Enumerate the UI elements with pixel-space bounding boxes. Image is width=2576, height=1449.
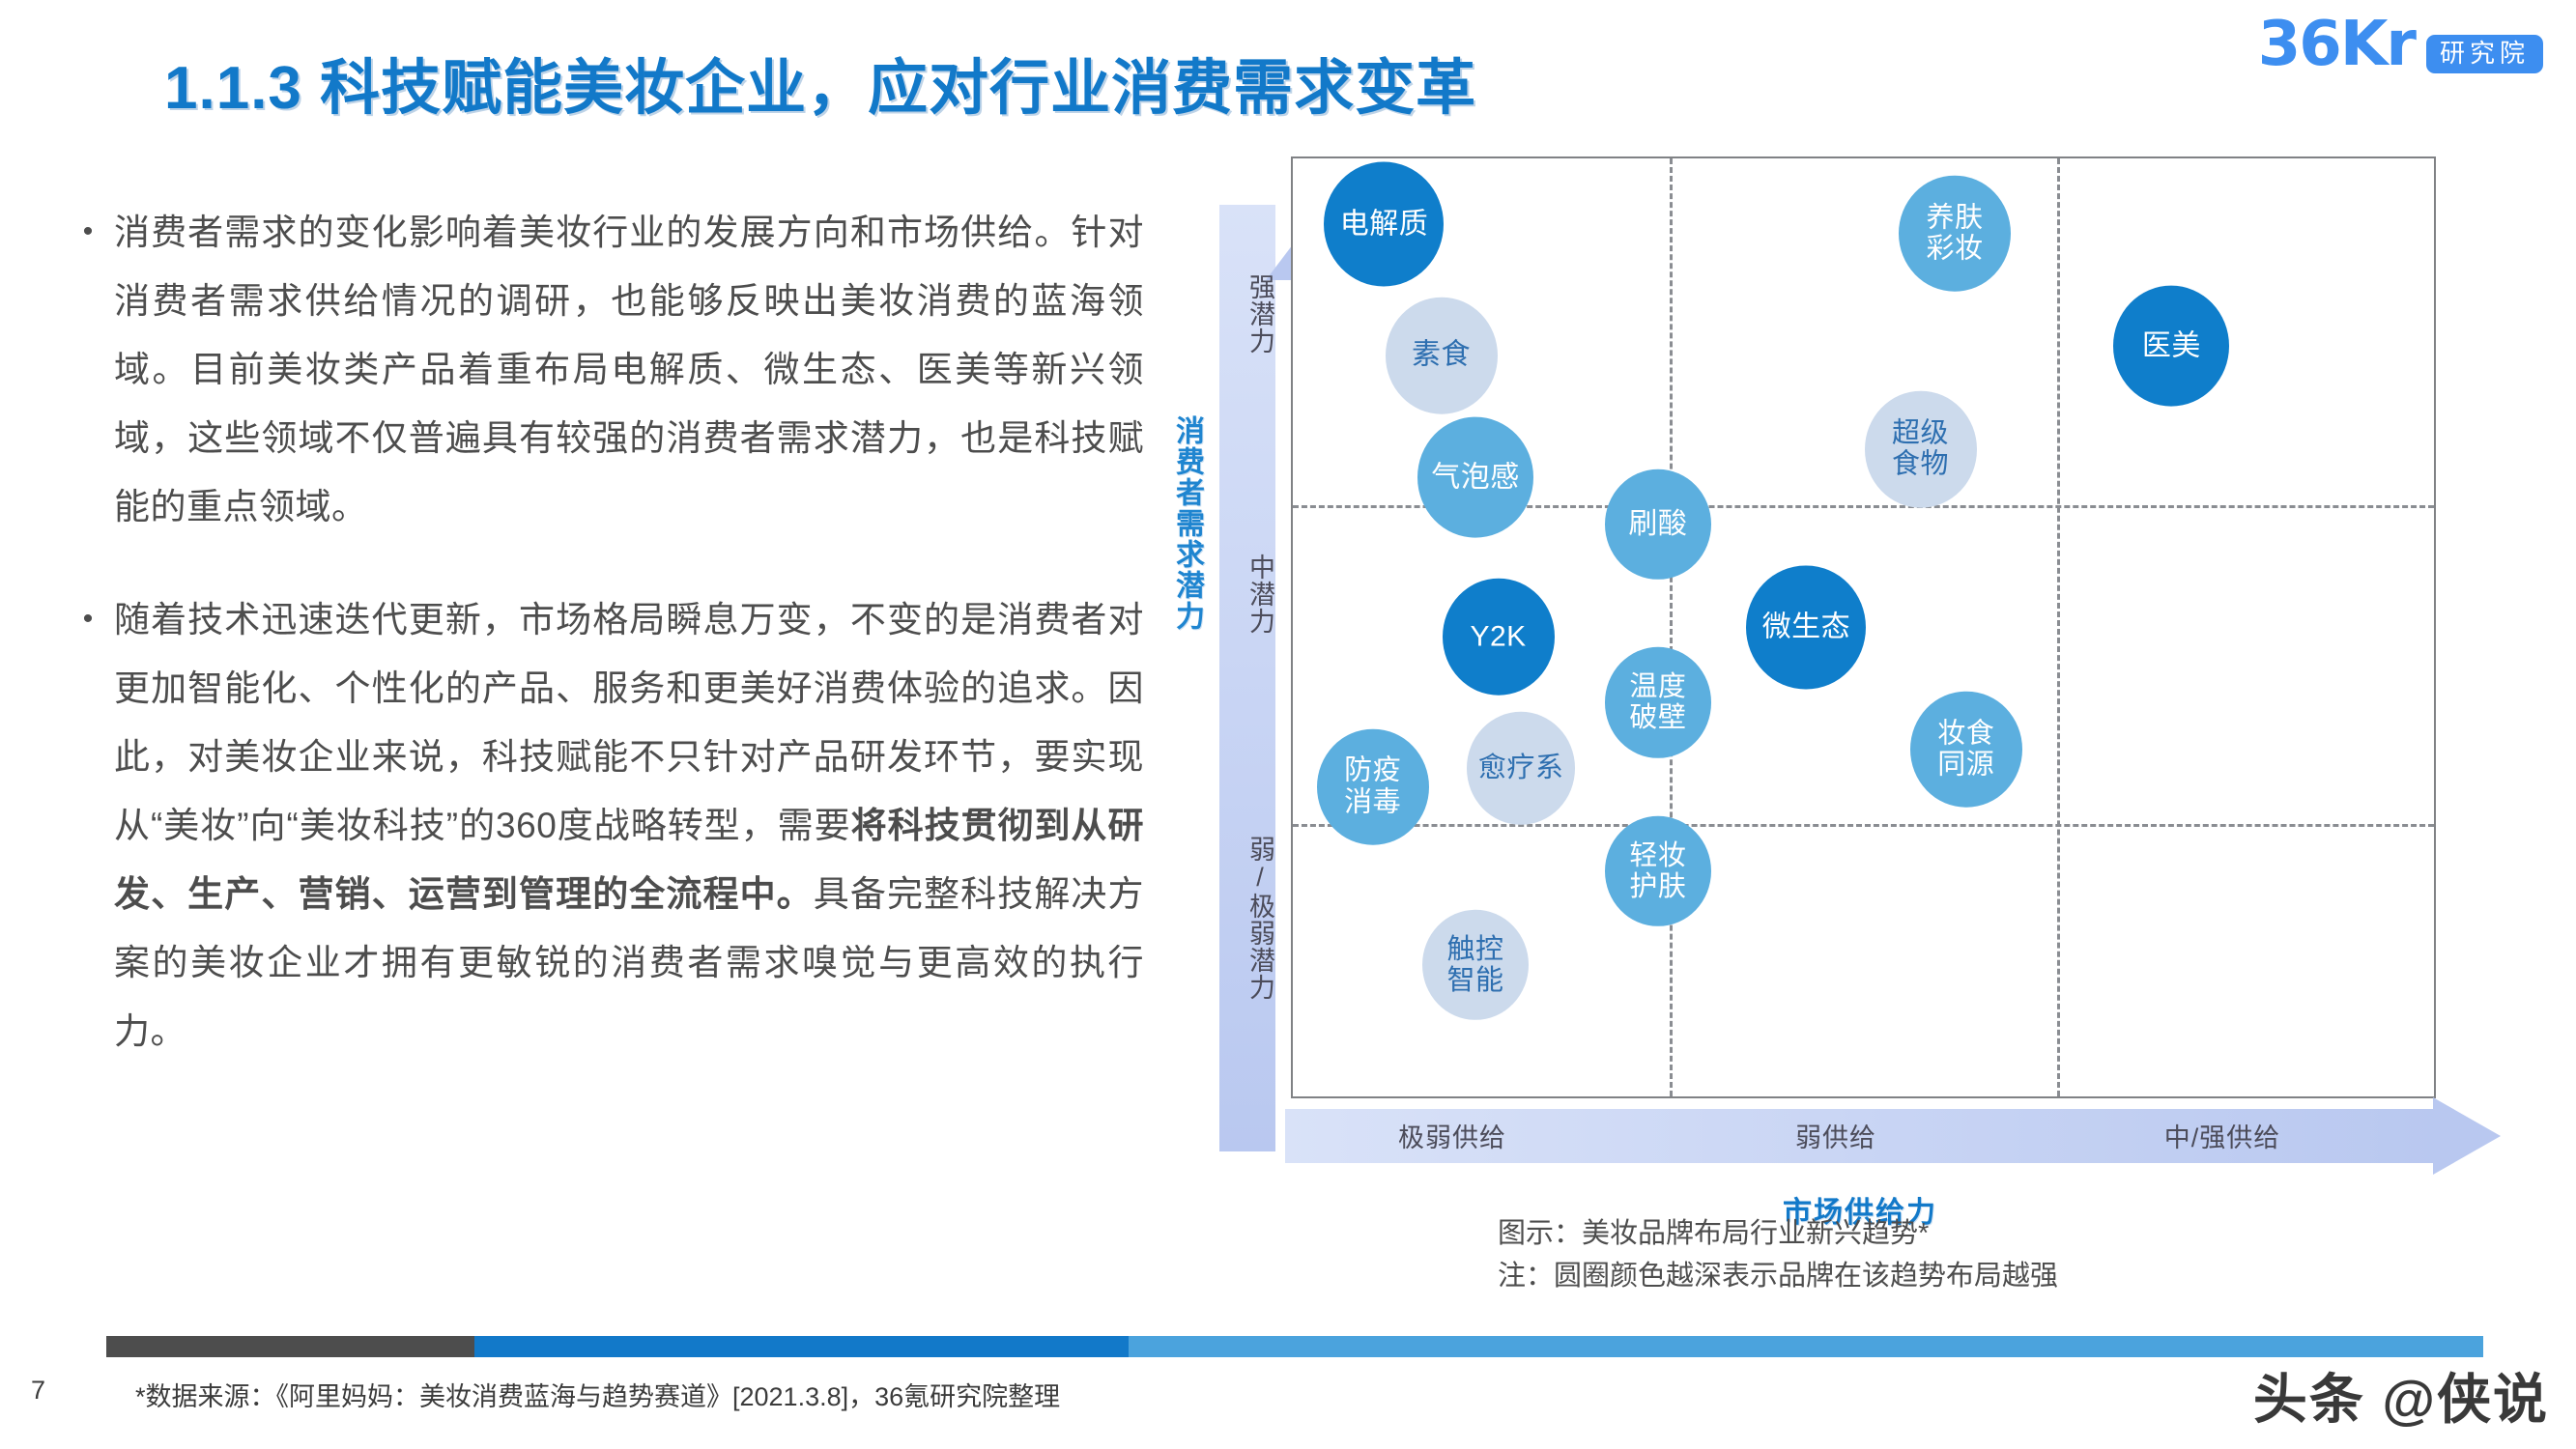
bubble-label: 气泡感	[1431, 461, 1520, 494]
bubble-7: 医美	[2113, 286, 2229, 407]
paragraph-2-text: 随着技术迅速迭代更新，市场格局瞬息万变，不变的是消费者对更加智能化、个性化的产品…	[114, 585, 1144, 1065]
bubble-label: 妆食 同源	[1937, 718, 1994, 781]
bubble-2: 素食	[1386, 298, 1498, 414]
bubble-6: 超级 食物	[1865, 391, 1977, 508]
x-tick-label-medium-strong: 中/强供给	[2063, 1117, 2382, 1154]
bubble-14: 轻妆 护肤	[1605, 816, 1711, 926]
bubble-label: 微生态	[1762, 611, 1851, 644]
bubble-label: 电解质	[1340, 208, 1429, 241]
bubble-13: 愈疗系	[1467, 712, 1575, 824]
x-tick-label-very-weak: 极弱供给	[1293, 1117, 1612, 1154]
bubble-11: 妆食 同源	[1910, 691, 2022, 808]
footer-progress-bar	[106, 1336, 2483, 1357]
bullet-icon-2: •	[62, 585, 114, 1065]
bubble-12: 防疫 消毒	[1317, 728, 1429, 845]
x-axis-arrow-icon	[2433, 1097, 2501, 1175]
brand-mark-text: 36Kr	[2258, 14, 2415, 75]
paragraph-1-text: 消费者需求的变化影响着美妆行业的发展方向和市场供给。针对消费者需求供给情况的调研…	[114, 198, 1144, 541]
gridline-vertical-1	[1670, 158, 1673, 1096]
x-tick-label-weak: 弱供给	[1676, 1117, 1995, 1154]
bubble-8: Y2K	[1443, 579, 1555, 696]
page-title: 1.1.3 科技赋能美妆企业，应对行业消费需求变革	[164, 39, 1476, 126]
watermark: 头条 @侠说	[2253, 1356, 2549, 1435]
y-axis-title: 消费者需求潜力	[1152, 415, 1204, 632]
bubble-label: 素食	[1412, 339, 1471, 372]
bubble-label: 医美	[2142, 329, 2201, 362]
bubble-1: 电解质	[1324, 161, 1444, 286]
bubble-5: 养肤 彩妆	[1899, 175, 2011, 292]
body-text-column: • 消费者需求的变化影响着美妆行业的发展方向和市场供给。针对消费者需求供给情况的…	[62, 198, 1144, 1110]
chart-caption-block: 图示：美妆品牌布局行业新兴趋势* 注：圆圈颜色越深表示品牌在该趋势布局越强	[1498, 1212, 2058, 1297]
y-tick-label-strong: 强潜力	[1219, 222, 1275, 406]
chart-caption: 图示：美妆品牌布局行业新兴趋势*	[1498, 1212, 2058, 1255]
bubble-label: 刷酸	[1628, 508, 1687, 541]
brand-logo: 36Kr 研究院	[2258, 14, 2543, 75]
footer-bar-segment-2	[474, 1336, 1129, 1357]
bubble-15: 触控 智能	[1422, 910, 1529, 1020]
bubble-label: 触控 智能	[1446, 934, 1503, 997]
bubble-label: 温度 破壁	[1629, 671, 1686, 734]
bubble-label: Y2K	[1470, 620, 1526, 653]
y-tick-label-medium: 中潜力	[1219, 502, 1275, 686]
bubble-label: 防疫 消毒	[1344, 755, 1401, 818]
bubble-label: 养肤 彩妆	[1926, 202, 1983, 265]
bubble-label: 轻妆 护肤	[1629, 839, 1686, 902]
page-number: 7	[31, 1376, 45, 1406]
bubble-3: 气泡感	[1417, 417, 1533, 538]
bubble-label: 超级 食物	[1892, 418, 1949, 481]
footer-bar-segment-3	[1129, 1336, 2483, 1357]
paragraph-1: • 消费者需求的变化影响着美妆行业的发展方向和市场供给。针对消费者需求供给情况的…	[62, 198, 1144, 541]
paragraph-2: • 随着技术迅速迭代更新，市场格局瞬息万变，不变的是消费者对更加智能化、个性化的…	[62, 585, 1144, 1065]
slide-page: 1.1.3 科技赋能美妆企业，应对行业消费需求变革 36Kr 研究院 • 消费者…	[0, 0, 2576, 1449]
gridline-vertical-2	[2057, 158, 2060, 1096]
bubble-10: 温度 破壁	[1605, 647, 1711, 757]
plot-area: 电解质素食气泡感刷酸养肤 彩妆超级 食物医美Y2K微生态温度 破壁妆食 同源防疫…	[1291, 156, 2436, 1098]
gridline-horizontal-2	[1293, 824, 2434, 827]
quadrant-bubble-chart: 消费者需求潜力 强潜力 中潜力 弱/极弱潜力 电解质素食气泡感刷酸养肤 彩妆超级…	[1150, 135, 2522, 1217]
footer-bar-segment-1	[106, 1336, 474, 1357]
source-note: *数据来源：《阿里妈妈：美妆消费蓝海与趋势赛道》[2021.3.8]，36氪研究…	[135, 1376, 1060, 1413]
brand-sub-badge: 研究院	[2426, 35, 2543, 73]
bubble-4: 刷酸	[1605, 469, 1711, 579]
bubble-9: 微生态	[1746, 565, 1866, 690]
chart-note: 注：圆圈颜色越深表示品牌在该趋势布局越强	[1498, 1255, 2058, 1297]
bullet-icon-1: •	[62, 198, 114, 541]
bubble-label: 愈疗系	[1478, 753, 1564, 783]
y-tick-label-weak: 弱/极弱潜力	[1219, 773, 1275, 1063]
